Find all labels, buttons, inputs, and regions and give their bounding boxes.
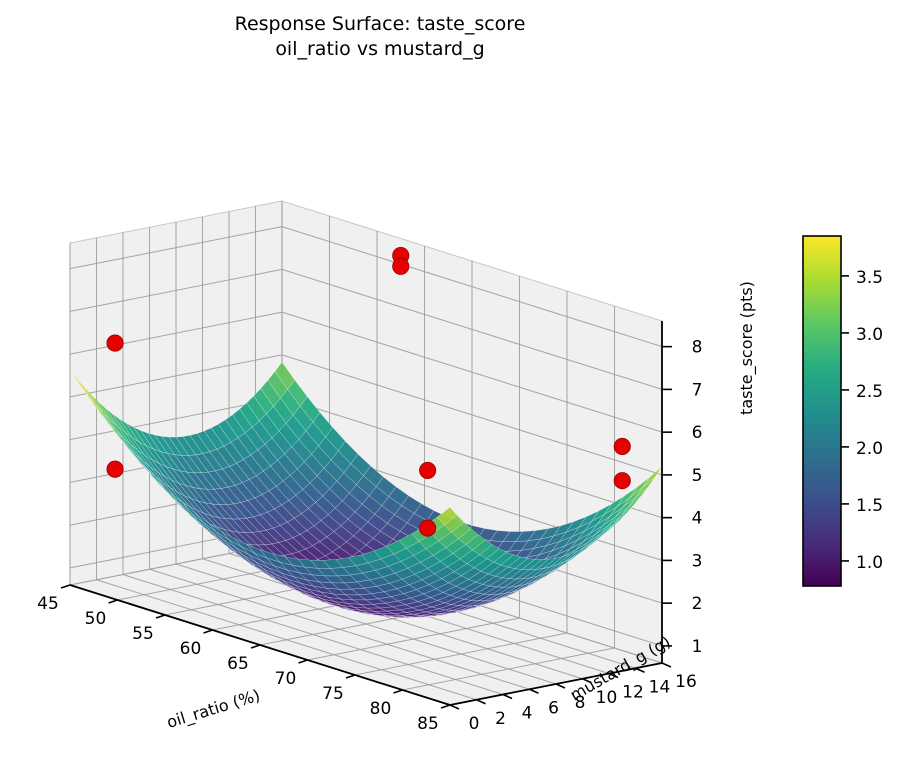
scatter-point <box>107 461 123 477</box>
z-axis-title: taste_score (pts) <box>737 281 757 415</box>
colorbar-tick-label: 1.5 <box>856 496 883 516</box>
colorbar-tick-label: 1.0 <box>856 553 883 573</box>
x-tick-label: 55 <box>132 624 154 644</box>
z-tick-label: 3 <box>692 551 703 571</box>
scatter-point <box>107 335 123 351</box>
z-tick-label: 7 <box>692 380 703 400</box>
x-tick-label: 60 <box>180 639 202 659</box>
y-tick-label: 4 <box>522 704 533 724</box>
colorbar-ticks <box>841 276 849 561</box>
colorbar: 1.01.52.02.53.03.5 <box>803 236 883 586</box>
figure-canvas: Response Surface: taste_score oil_ratio … <box>0 0 902 775</box>
colorbar-tick-label: 2.0 <box>856 439 883 459</box>
x-tick-label: 80 <box>370 699 392 719</box>
x-tick-label: 50 <box>85 609 107 629</box>
scatter-point <box>614 438 630 454</box>
colorbar-tick-label: 3.0 <box>856 325 883 345</box>
y-tick-label: 16 <box>675 672 697 692</box>
colorbar-tick-label: 2.5 <box>856 382 883 402</box>
y-tick-label: 12 <box>622 683 644 703</box>
z-tick-label: 4 <box>692 509 703 529</box>
z-tick-label: 2 <box>692 594 703 614</box>
x-tick-label: 70 <box>275 669 297 689</box>
z-tick-label: 1 <box>692 637 703 657</box>
z-tick-label: 5 <box>692 466 703 486</box>
colorbar-tick-labels: 1.01.52.02.53.03.5 <box>856 268 883 573</box>
scatter-point <box>393 258 409 274</box>
colorbar-gradient <box>803 236 841 586</box>
x-tick-label: 85 <box>417 714 439 734</box>
y-tick-label: 14 <box>649 677 671 697</box>
x-tick-label: 75 <box>322 684 344 704</box>
surface-plot-3d: 455055606570758085024681012141612345678 … <box>0 0 902 775</box>
z-tick-label: 8 <box>692 338 703 358</box>
z-tick-label: 6 <box>692 423 703 443</box>
colorbar-tick-label: 3.5 <box>856 268 883 288</box>
scatter-point <box>419 462 435 478</box>
scatter-point <box>419 520 435 536</box>
x-axis-title: oil_ratio (%) <box>165 686 263 733</box>
y-tick-label: 0 <box>469 714 480 734</box>
scatter-point <box>614 472 630 488</box>
y-tick-label: 2 <box>495 709 506 729</box>
y-tick-label: 6 <box>548 698 559 718</box>
x-tick-label: 45 <box>37 594 59 614</box>
x-tick-label: 65 <box>227 654 249 674</box>
